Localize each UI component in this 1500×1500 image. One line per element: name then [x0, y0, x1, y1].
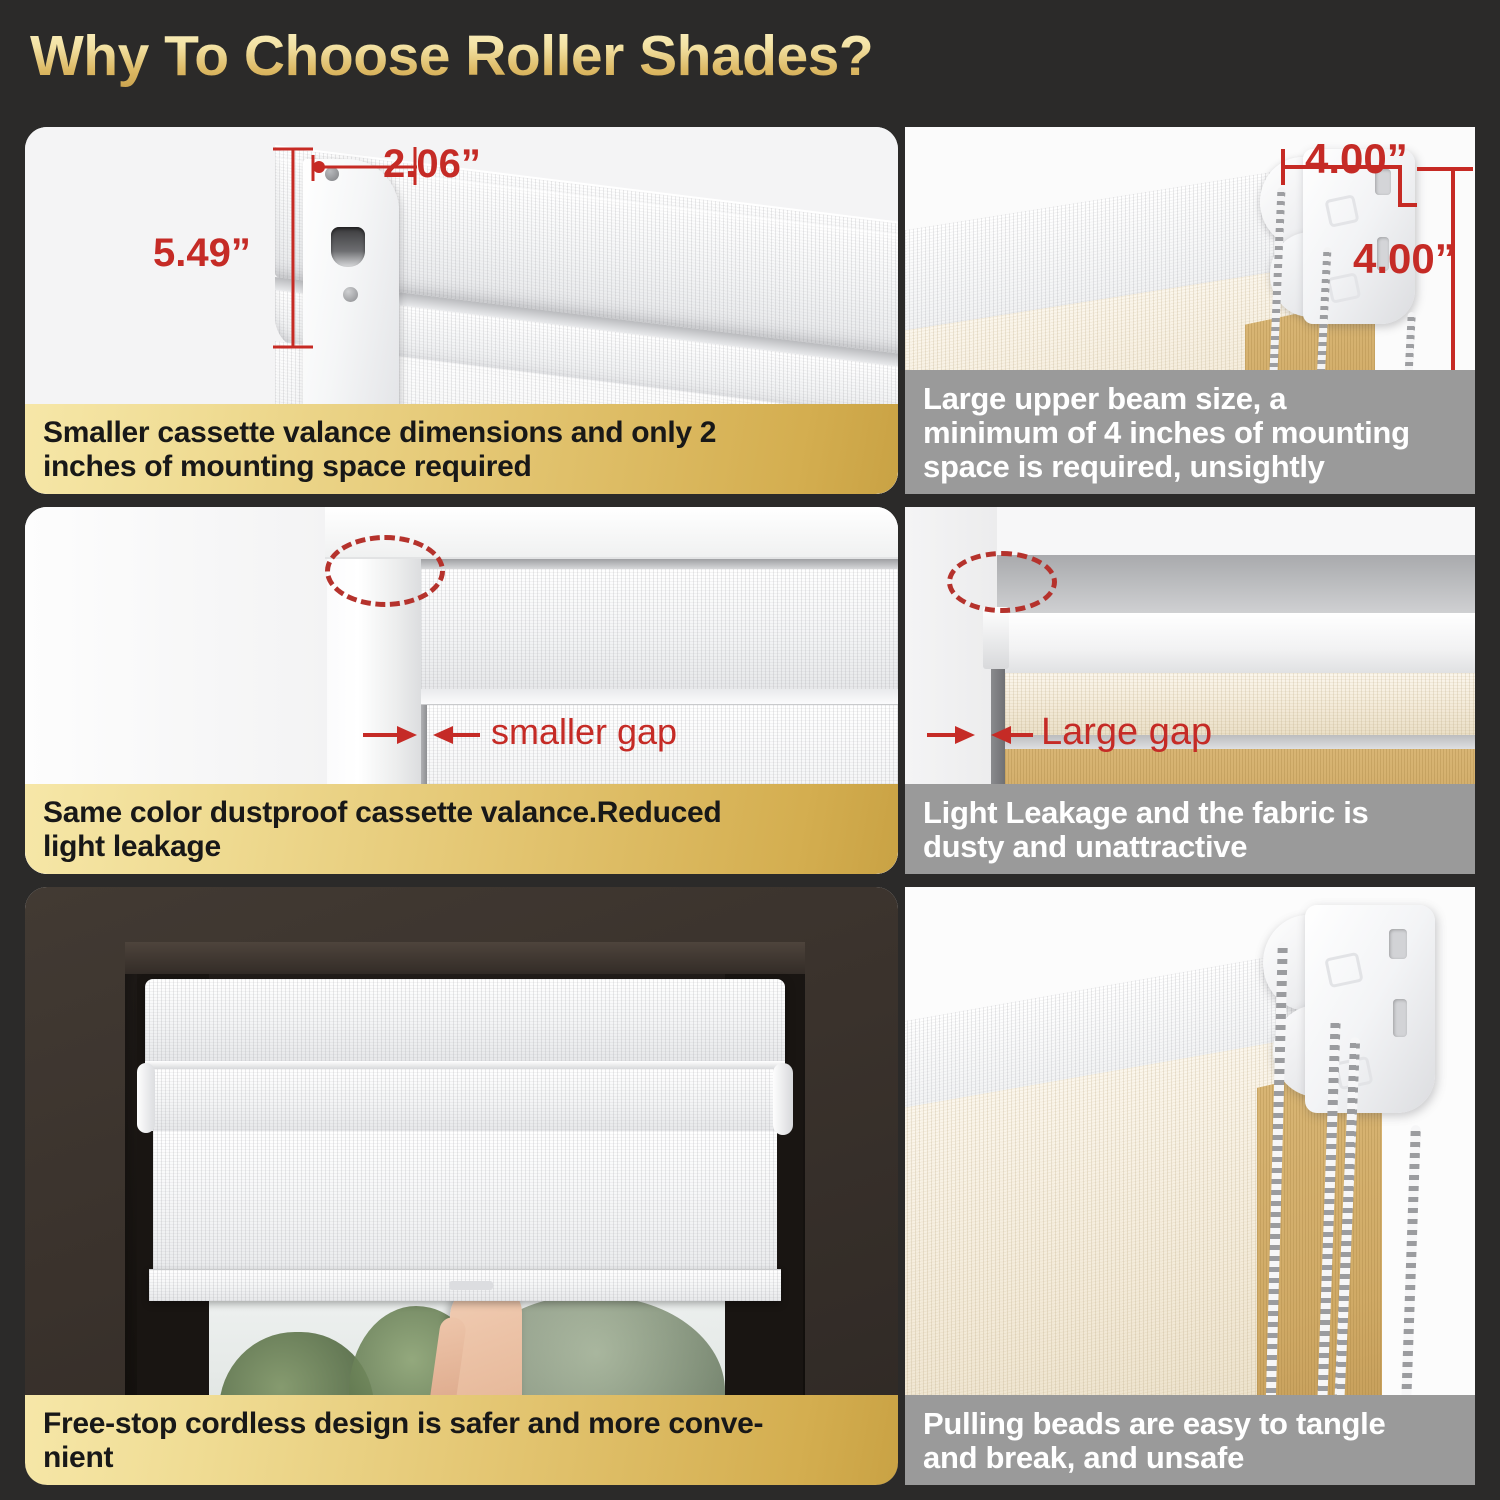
panel-cordless-window: Free-stop cordless design is safer and m…	[25, 887, 898, 1485]
panel-smaller-gap: smaller gap Same color dustproof cassett…	[25, 507, 898, 874]
panel-large-gap: Large gap Light Leakage and the fabric i…	[905, 507, 1475, 874]
comparison-grid: 2.06” 5.49” Smaller cassette valance dim…	[0, 112, 1500, 1500]
gap-callout-label: Large gap	[1041, 711, 1212, 754]
caption-text: Smaller cassette valance dimensions and …	[43, 416, 716, 484]
bracket-top-screw	[325, 167, 339, 181]
valance-end-cap-right	[773, 1063, 793, 1135]
width-dimension-label: 4.00”	[1305, 135, 1408, 183]
cassette-valance-top-edge	[421, 559, 898, 569]
panel-upper-beam-size: 4.00” 4.00” Large upper beam size, a min…	[905, 127, 1475, 494]
dashed-circle-highlight	[325, 535, 445, 607]
caption-banner: Same color dustproof cassette valance.Re…	[25, 784, 898, 874]
shade-valance-seam	[145, 1061, 785, 1069]
shade-fabric-body	[153, 1131, 777, 1287]
caption-banner: Light Leakage and the fabric is dusty an…	[905, 784, 1475, 874]
bracket-pivot-hole	[331, 227, 365, 267]
roller-end-bracket	[983, 607, 1009, 669]
bottom-rail-grip	[449, 1281, 493, 1290]
caption-text: Free-stop cordless design is safer and m…	[43, 1407, 763, 1475]
panel-cassette-dimensions: 2.06” 5.49” Smaller cassette valance dim…	[25, 127, 898, 494]
gap-callout-label: smaller gap	[491, 711, 677, 753]
page-header: Why To Choose Roller Shades?	[0, 0, 1500, 112]
caption-banner: Large upper beam size, a minimum of 4 in…	[905, 370, 1475, 494]
cassette-valance-face	[421, 569, 898, 689]
valance-end-cap-left	[137, 1063, 155, 1133]
caption-banner: Free-stop cordless design is safer and m…	[25, 1395, 898, 1485]
window-frame-top-reveal	[125, 942, 805, 974]
bracket-screw-upper	[343, 287, 358, 302]
beam-front-face	[997, 613, 1475, 673]
caption-text: Large upper beam size, a minimum of 4 in…	[923, 382, 1410, 484]
dashed-circle-highlight	[947, 551, 1057, 613]
bracket-slot-upper	[1389, 929, 1407, 959]
shade-valance-top	[145, 979, 785, 1061]
page-title: Why To Choose Roller Shades?	[30, 23, 873, 89]
caption-text: Light Leakage and the fabric is dusty an…	[923, 796, 1368, 864]
caption-text: Pulling beads are easy to tangle and bre…	[923, 1407, 1385, 1475]
valance-bottom-lip	[421, 689, 898, 705]
caption-text: Same color dustproof cassette valance.Re…	[43, 796, 721, 864]
width-dimension-label: 2.06”	[383, 142, 481, 187]
upper-recess-shadow	[997, 555, 1475, 613]
height-dimension-label: 5.49”	[153, 231, 251, 276]
height-dimension-label: 4.00”	[1353, 235, 1456, 283]
panel-pulling-beads: Pulling beads are easy to tangle and bre…	[905, 887, 1475, 1485]
caption-banner: Smaller cassette valance dimensions and …	[25, 404, 898, 494]
bracket-slot-lower	[1393, 999, 1407, 1037]
shade-valance-lower	[149, 1069, 781, 1131]
caption-banner: Pulling beads are easy to tangle and bre…	[905, 1395, 1475, 1485]
